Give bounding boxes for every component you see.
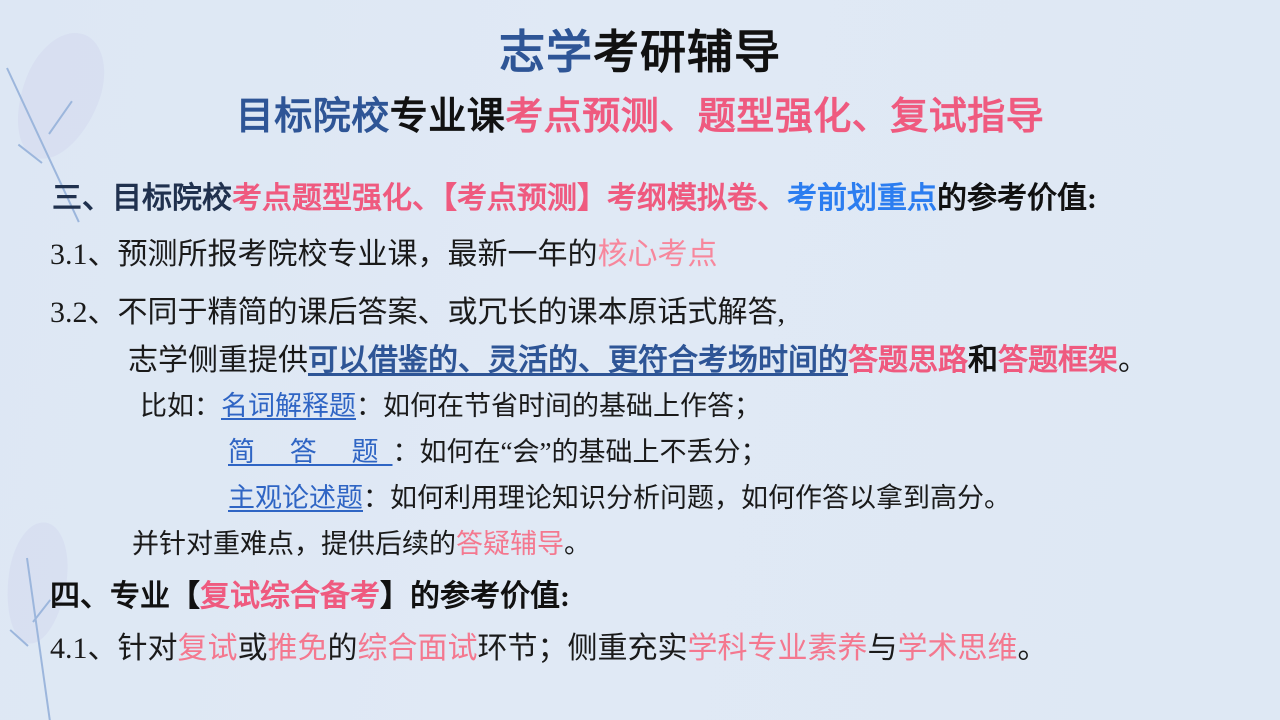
section-3-tail-suffix: 。 bbox=[564, 529, 591, 559]
item-3-2-underlined-phrase: 可以借鉴的、灵活的、更符合考场时间的 bbox=[308, 344, 848, 377]
item-3-2-line-1-text: 3.2、不同于精简的课后答案、或冗长的课本原话式解答, bbox=[50, 296, 785, 329]
slide-canvas: 志学考研辅导 目标院校专业课考点预测、题型强化、复试指导 三、目标院校考点题型强… bbox=[0, 0, 1280, 720]
subtitle-segment-black: 专业课 bbox=[390, 96, 506, 138]
example-1-separator: ： bbox=[356, 391, 383, 421]
item-4-1-highlight-1: 复试 bbox=[178, 632, 238, 665]
feather-barb-icon bbox=[9, 629, 28, 647]
item-4-1-part-3: 的 bbox=[328, 632, 358, 665]
page-title-rest: 考研辅导 bbox=[593, 27, 781, 78]
section-3-tail-prefix: 并针对重难点，提供后续的 bbox=[132, 529, 456, 559]
example-3-body: 如何利用理论知识分析问题，如何作答以拿到高分。 bbox=[390, 483, 1011, 513]
item-3-2-period: 。 bbox=[1118, 344, 1148, 377]
example-3-separator: ： bbox=[363, 483, 390, 513]
section-3-heading-pink: 考点题型强化、【考点预测】考纲模拟卷、 bbox=[232, 182, 787, 215]
feather-barb-icon bbox=[32, 599, 51, 622]
subtitle-segment-pink: 考点预测、题型强化、复试指导 bbox=[505, 96, 1044, 138]
item-3-2-pink-1: 答题思路 bbox=[848, 344, 968, 377]
item-4-1-highlight-5: 学术思维 bbox=[898, 632, 1018, 665]
item-4-1-part-5: 与 bbox=[868, 632, 898, 665]
page-subtitle: 目标院校专业课考点预测、题型强化、复试指导 bbox=[0, 96, 1280, 140]
section-4-heading: 四、专业【复试综合备考】的参考价值: bbox=[50, 580, 570, 613]
section-3-heading-prefix: 三、目标院校 bbox=[52, 182, 232, 215]
item-4-1: 4.1、针对复试或推免的综合面试环节；侧重充实学科专业素养与学术思维。 bbox=[50, 632, 1048, 665]
example-1-body: 如何在节省时间的基础上作答； bbox=[383, 391, 761, 421]
section-3-heading-suffix: 的参考价值: bbox=[937, 182, 1097, 215]
section-4-heading-prefix: 四、专业【 bbox=[50, 580, 200, 613]
example-2-body: 如何在“会”的基础上不丢分； bbox=[420, 437, 768, 467]
item-4-1-part-1: 4.1、针对 bbox=[50, 632, 178, 665]
item-3-1-highlight: 核心考点 bbox=[598, 238, 718, 271]
item-4-1-part-4: 环节；侧重充实 bbox=[478, 632, 688, 665]
example-3-label: 主观论述题 bbox=[228, 483, 363, 513]
item-3-2-line-1: 3.2、不同于精简的课后答案、或冗长的课本原话式解答, bbox=[50, 296, 785, 329]
item-3-2-pink-2: 答题框架 bbox=[998, 344, 1118, 377]
section-4-heading-highlight: 复试综合备考 bbox=[200, 580, 380, 613]
subtitle-segment-blue: 目标院校 bbox=[236, 96, 390, 138]
item-3-2-line-2: 志学侧重提供可以借鉴的、灵活的、更符合考场时间的答题思路和答题框架。 bbox=[128, 344, 1148, 377]
example-1-lead: 比如： bbox=[140, 391, 221, 421]
item-3-2-prefix: 志学侧重提供 bbox=[128, 344, 308, 377]
item-3-1: 3.1、预测所报考院校专业课，最新一年的核心考点 bbox=[50, 238, 718, 271]
page-title: 志学考研辅导 bbox=[0, 28, 1280, 79]
item-4-1-highlight-2: 推免 bbox=[268, 632, 328, 665]
item-4-1-highlight-3: 综合面试 bbox=[358, 632, 478, 665]
section-3-tail-highlight: 答疑辅导 bbox=[456, 529, 564, 559]
item-4-1-period: 。 bbox=[1018, 632, 1048, 665]
item-4-1-part-2: 或 bbox=[238, 632, 268, 665]
section-3-heading-blue: 考前划重点 bbox=[787, 182, 937, 215]
example-1-label: 名词解释题 bbox=[221, 391, 356, 421]
item-3-2-conjunction: 和 bbox=[968, 344, 998, 377]
example-2-separator: ： bbox=[393, 437, 420, 467]
section-3-tail: 并针对重难点，提供后续的答疑辅导。 bbox=[132, 530, 591, 560]
feather-stem-icon bbox=[26, 558, 52, 720]
page-title-brand: 志学 bbox=[499, 27, 593, 78]
section-4-heading-suffix: 】的参考价值: bbox=[380, 580, 570, 613]
section-3-heading: 三、目标院校考点题型强化、【考点预测】考纲模拟卷、考前划重点的参考价值: bbox=[52, 182, 1097, 215]
example-row-2: 简 答 题：如何在“会”的基础上不丢分； bbox=[228, 438, 767, 468]
example-row-1: 比如：名词解释题：如何在节省时间的基础上作答； bbox=[140, 392, 761, 422]
item-4-1-highlight-4: 学科专业素养 bbox=[688, 632, 868, 665]
item-3-1-text: 3.1、预测所报考院校专业课，最新一年的 bbox=[50, 238, 598, 271]
feather-barb-icon bbox=[18, 144, 43, 164]
example-2-label: 简 答 题 bbox=[228, 437, 393, 467]
example-row-3: 主观论述题：如何利用理论知识分析问题，如何作答以拿到高分。 bbox=[228, 484, 1011, 514]
